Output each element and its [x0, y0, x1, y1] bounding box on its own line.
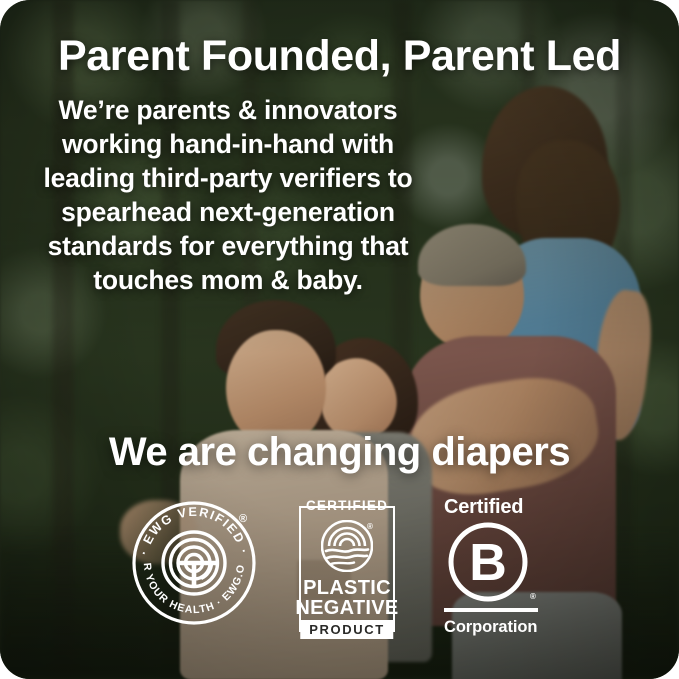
b-corp-registered-mark: ®: [530, 592, 536, 601]
b-corp-badge: Certified B ® Corporation: [444, 496, 540, 642]
b-corp-letter: B: [469, 534, 507, 592]
plastic-negative-wave-icon: [321, 520, 373, 572]
certification-badges: · EWG VERIFIED · FOR YOUR HEALTH · EWG.O…: [0, 496, 679, 646]
subcopy-paragraph: We’re parents & innovators working hand-…: [22, 93, 434, 297]
subcopy-line-5: standards for everything that: [22, 229, 434, 263]
promo-card: Parent Founded, Parent Led We’re parents…: [0, 0, 679, 679]
b-corp-icon: B: [448, 522, 528, 602]
content-layer: Parent Founded, Parent Led We’re parents…: [0, 0, 679, 679]
subcopy-line-1: We’re parents & innovators: [22, 93, 434, 127]
b-corp-divider: [444, 608, 538, 612]
plastic-negative-line-2: NEGATIVE: [293, 597, 401, 620]
b-corp-corporation-label: Corporation: [444, 618, 537, 637]
subcopy-line-6: touches mom & baby.: [22, 263, 434, 297]
b-corp-certified-label: Certified: [444, 496, 523, 518]
subcopy-line-4: spearhead next-generation: [22, 195, 434, 229]
subcopy-line-2: working hand-in-hand with: [22, 127, 434, 161]
plastic-negative-registered-mark: ®: [367, 522, 373, 531]
tagline: We are changing diapers: [0, 430, 679, 475]
ewg-verified-badge: · EWG VERIFIED · FOR YOUR HEALTH · EWG.O…: [131, 500, 257, 626]
plastic-negative-badge: CERTIFIED ® PLASTIC NEGATIVE PRODUCT: [293, 498, 401, 638]
plastic-negative-certified-label: CERTIFIED: [301, 498, 393, 514]
subcopy-line-3: leading third-party verifiers to: [22, 161, 434, 195]
ewg-verified-icon: · EWG VERIFIED · FOR YOUR HEALTH · EWG.O…: [131, 500, 257, 626]
headline: Parent Founded, Parent Led: [0, 32, 679, 81]
ewg-registered-mark: ®: [239, 513, 247, 525]
plastic-negative-product-chip: PRODUCT: [300, 620, 393, 639]
